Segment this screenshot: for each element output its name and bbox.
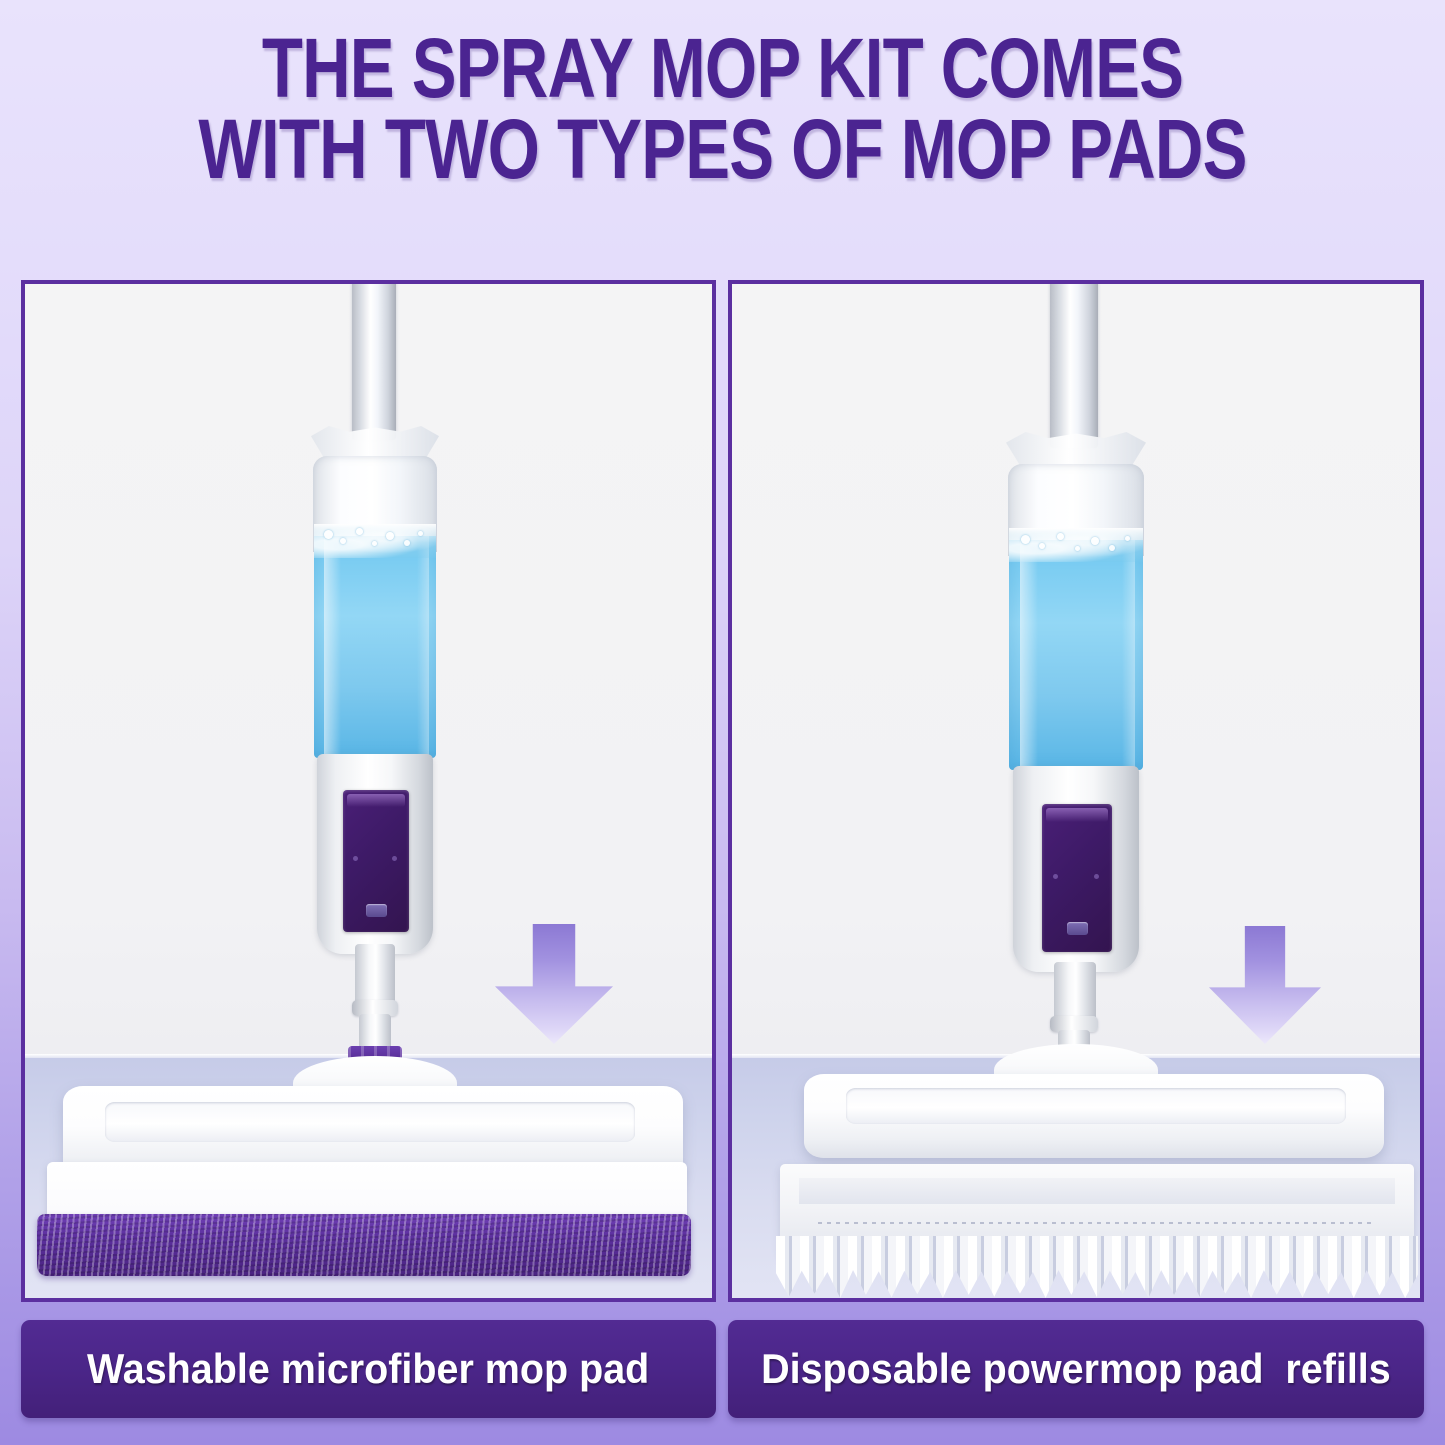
mop-head-plate — [804, 1074, 1384, 1158]
disposable-pad-band — [799, 1178, 1395, 1204]
bottle-liquid — [1009, 540, 1143, 770]
caption-bar-disposable: Disposable powermop pad refills — [728, 1320, 1424, 1418]
trigger-gloss — [347, 794, 405, 807]
liquid-highlight-left — [1020, 540, 1039, 770]
liquid-surface — [314, 524, 436, 558]
mop-pole — [352, 280, 396, 440]
liquid-surface — [1009, 528, 1143, 562]
mop-head-inset — [846, 1088, 1346, 1124]
spray-button[interactable] — [366, 904, 387, 917]
liquid-highlight-right — [417, 536, 429, 758]
caption-label-washable: Washable microfiber mop pad — [87, 1345, 649, 1393]
page-title: THE SPRAY MOP KIT COMES WITH TWO TYPES O… — [145, 28, 1301, 189]
trigger-panel[interactable] — [1042, 804, 1112, 952]
disposable-pad-seam — [818, 1222, 1376, 1224]
product-panel-disposable — [728, 280, 1424, 1302]
liquid-highlight-right — [1122, 540, 1135, 770]
scene-washable — [25, 284, 712, 1298]
spray-button[interactable] — [1067, 922, 1088, 935]
microfiber-pad-purple — [37, 1214, 691, 1276]
bottle-housing — [317, 754, 433, 954]
mop-head-inset — [105, 1102, 635, 1142]
trigger-gloss — [1046, 808, 1108, 821]
caption-bar-washable: Washable microfiber mop pad — [21, 1320, 716, 1418]
product-panel-washable — [21, 280, 716, 1302]
bottle-liquid — [314, 536, 436, 758]
mop-pole — [1050, 280, 1098, 448]
caption-label-disposable: Disposable powermop pad refills — [761, 1345, 1391, 1393]
scene-disposable — [732, 284, 1420, 1298]
bottle-housing — [1013, 766, 1139, 972]
trigger-panel[interactable] — [343, 790, 409, 932]
lower-shaft — [1054, 962, 1096, 1024]
lower-shaft — [355, 944, 395, 1008]
liquid-highlight-left — [324, 536, 341, 758]
